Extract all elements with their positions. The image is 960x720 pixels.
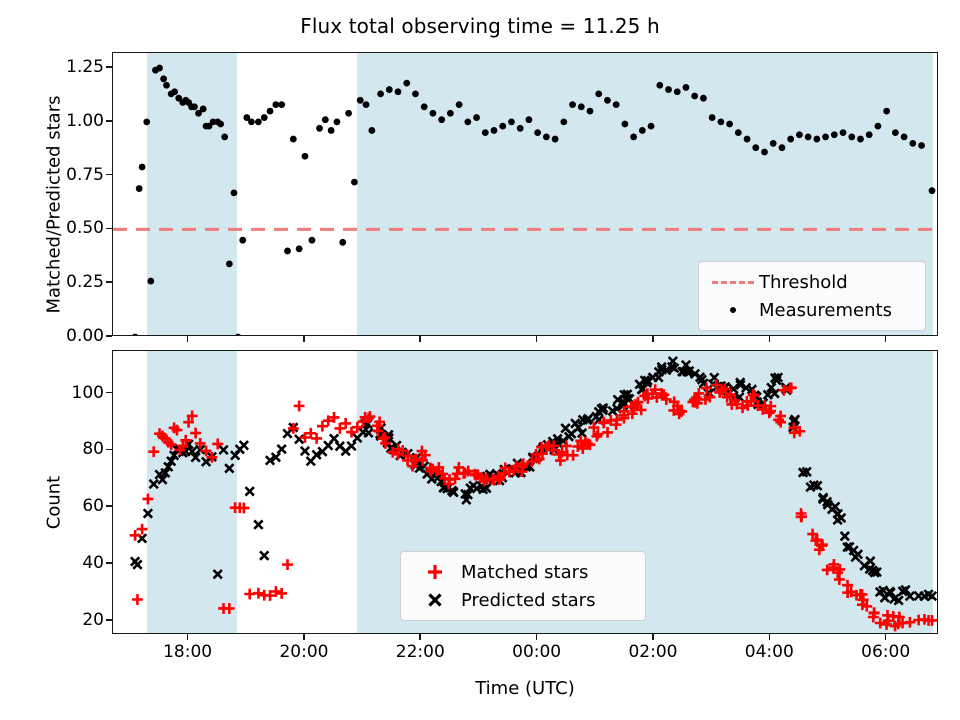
data-point: [775, 417, 786, 428]
data-point: [278, 101, 285, 108]
data-point: [929, 187, 936, 194]
legend-item-matched-stars: Matched stars: [409, 558, 635, 586]
data-point: [726, 121, 733, 128]
y-tick-mark: [106, 449, 112, 451]
data-point: [430, 110, 437, 117]
bottom-panel-legend: Matched stars Predicted stars: [400, 551, 646, 621]
x-tick-label: 06:00: [861, 642, 910, 662]
y-tick-label: 0.75: [6, 165, 104, 185]
data-point: [841, 532, 849, 540]
y-tick-mark: [106, 562, 112, 564]
data-point: [328, 127, 335, 134]
data-point: [787, 136, 794, 143]
data-point: [136, 185, 143, 192]
data-point: [854, 550, 862, 558]
data-point: [219, 446, 227, 454]
data-point: [130, 530, 141, 541]
data-point: [456, 101, 463, 108]
y-tick-label: 1.00: [6, 111, 104, 131]
data-point: [656, 82, 663, 89]
data-point: [351, 179, 358, 186]
data-point: [866, 131, 873, 138]
data-point: [604, 97, 611, 104]
x-tick-label: 04:00: [745, 642, 794, 662]
data-point: [674, 88, 681, 95]
data-point: [290, 136, 297, 143]
legend-label-matched-stars: Matched stars: [461, 562, 588, 583]
x-tick-mark: [419, 634, 421, 640]
data-point: [322, 116, 329, 123]
data-point: [224, 603, 235, 614]
data-point: [883, 108, 890, 115]
data-point: [560, 118, 567, 125]
data-point: [190, 428, 201, 439]
data-point: [148, 446, 159, 457]
x-tick-mark: [769, 634, 771, 640]
data-point: [552, 136, 559, 143]
data-point: [221, 134, 228, 141]
data-point: [386, 86, 393, 93]
data-point: [630, 134, 637, 141]
data-point: [735, 129, 742, 136]
data-point: [248, 118, 255, 125]
data-point: [296, 245, 303, 252]
data-point: [569, 101, 576, 108]
legend-label-predicted-stars: Predicted stars: [461, 590, 595, 611]
data-point: [717, 118, 724, 125]
legend-label-threshold: Threshold: [759, 272, 848, 293]
plus-marker-icon: [409, 562, 461, 582]
y-tick-mark: [106, 281, 112, 283]
data-point: [171, 88, 178, 95]
measurement-dot-icon: [707, 307, 759, 313]
data-point: [235, 334, 242, 336]
data-point: [137, 524, 148, 535]
x-axis-label: Time (UTC): [112, 678, 938, 699]
data-point: [421, 103, 428, 110]
y-tick-mark: [106, 228, 112, 230]
data-point: [648, 123, 655, 130]
data-point: [368, 127, 375, 134]
data-point: [163, 82, 170, 89]
data-point: [796, 131, 803, 138]
data-point: [700, 95, 707, 102]
y-tick-label: 1.25: [6, 57, 104, 77]
x-tick-mark: [187, 634, 189, 640]
data-point: [254, 520, 262, 528]
data-point: [144, 509, 152, 517]
data-point: [363, 101, 370, 108]
data-point: [139, 164, 146, 171]
data-point: [875, 123, 882, 130]
legend-item-measurements: Measurements: [707, 296, 915, 324]
data-point: [875, 618, 886, 629]
data-point: [395, 88, 402, 95]
data-point: [132, 594, 143, 605]
x-tick-label: 02:00: [628, 642, 677, 662]
data-point: [901, 134, 908, 141]
data-point: [561, 424, 569, 432]
x-tick-label: 20:00: [279, 642, 328, 662]
data-point: [239, 237, 246, 244]
data-point: [156, 65, 163, 72]
x-tick-mark: [885, 634, 887, 640]
y-tick-label: 0.00: [6, 326, 104, 346]
data-point: [213, 570, 221, 578]
data-point: [160, 75, 167, 82]
data-point: [132, 334, 139, 336]
y-tick-label: 40: [6, 553, 104, 573]
x-tick-label: 00:00: [512, 642, 561, 662]
data-point: [191, 103, 198, 110]
data-point: [277, 445, 285, 453]
data-point: [779, 144, 786, 151]
data-point: [526, 116, 533, 123]
data-point: [621, 121, 628, 128]
data-point: [147, 278, 154, 285]
data-point: [602, 427, 613, 438]
data-point: [301, 447, 309, 455]
data-point: [412, 90, 419, 97]
x-tick-mark: [419, 336, 421, 342]
legend-label-measurements: Measurements: [759, 300, 892, 321]
top-panel-legend: Threshold Measurements: [698, 261, 926, 331]
x-tick-label: 18:00: [163, 642, 212, 662]
data-point: [464, 118, 471, 125]
data-point: [253, 588, 264, 599]
data-point: [543, 134, 550, 141]
data-point: [905, 617, 916, 628]
page-title: Flux total observing time = 11.25 h: [0, 14, 960, 38]
x-tick-mark: [536, 634, 538, 640]
data-point: [822, 134, 829, 141]
y-tick-mark: [106, 66, 112, 68]
data-point: [639, 127, 646, 134]
data-point: [231, 189, 238, 196]
data-point: [857, 136, 864, 143]
data-point: [613, 101, 620, 108]
data-point: [813, 136, 820, 143]
data-point: [555, 455, 566, 466]
y-tick-mark: [106, 619, 112, 621]
y-tick-label: 20: [6, 610, 104, 630]
data-point: [587, 108, 594, 115]
data-point: [709, 114, 716, 121]
data-point: [294, 401, 305, 412]
data-point: [534, 129, 541, 136]
data-point: [276, 588, 287, 599]
data-point: [357, 97, 364, 104]
x-tick-mark: [769, 336, 771, 342]
data-point: [225, 464, 233, 472]
x-tick-mark: [536, 336, 538, 342]
top-panel-y-axis-label: Matched/Predicted stars: [44, 63, 65, 347]
data-point: [339, 239, 346, 246]
data-point: [309, 237, 316, 244]
data-point: [334, 118, 341, 125]
legend-item-threshold: Threshold: [707, 268, 915, 296]
y-tick-label: 80: [6, 439, 104, 459]
data-point: [578, 103, 585, 110]
x-tick-mark: [187, 336, 189, 342]
data-point: [282, 559, 293, 570]
data-point: [311, 433, 322, 444]
data-point: [245, 487, 253, 495]
data-point: [834, 574, 845, 585]
data-point: [683, 84, 690, 91]
data-point: [595, 90, 602, 97]
data-point: [822, 564, 833, 575]
cross-marker-icon: [409, 590, 461, 610]
data-point: [848, 134, 855, 141]
figure: Flux total observing time = 11.25 h Matc…: [0, 0, 960, 720]
x-tick-label: 22:00: [396, 642, 445, 662]
data-point: [260, 551, 268, 559]
y-tick-mark: [106, 505, 112, 507]
data-point: [217, 121, 224, 128]
threshold-dashed-line-icon: [707, 281, 759, 284]
data-point: [261, 114, 268, 121]
x-tick-mark: [652, 634, 654, 640]
data-point: [143, 118, 150, 125]
y-tick-label: 0.25: [6, 272, 104, 292]
data-point: [447, 110, 454, 117]
data-point: [240, 441, 248, 449]
data-point: [226, 260, 233, 267]
data-point: [403, 80, 410, 87]
data-point: [267, 108, 274, 115]
data-point: [150, 480, 158, 488]
data-point: [143, 494, 154, 505]
data-point: [482, 129, 489, 136]
y-tick-mark: [106, 392, 112, 394]
data-point: [752, 144, 759, 151]
data-point: [200, 106, 207, 113]
data-point: [918, 142, 925, 149]
y-tick-mark: [106, 174, 112, 176]
data-point: [517, 125, 524, 132]
data-point: [499, 123, 506, 130]
x-tick-mark: [652, 336, 654, 342]
data-point: [508, 118, 515, 125]
data-point: [840, 129, 847, 136]
x-tick-mark: [303, 634, 305, 640]
y-tick-label: 0.50: [6, 218, 104, 238]
data-point: [831, 131, 838, 138]
x-tick-mark: [885, 336, 887, 342]
data-point: [491, 127, 498, 134]
y-tick-label: 100: [6, 383, 104, 403]
y-tick-mark: [106, 120, 112, 122]
data-point: [770, 140, 777, 147]
data-point: [761, 149, 768, 156]
data-point: [438, 116, 445, 123]
y-tick-label: 60: [6, 496, 104, 516]
data-point: [691, 93, 698, 100]
data-point: [744, 136, 751, 143]
data-point: [255, 118, 262, 125]
data-point: [133, 560, 141, 568]
x-tick-mark: [303, 336, 305, 342]
data-point: [909, 140, 916, 147]
data-point: [665, 86, 672, 93]
data-point: [473, 114, 480, 121]
data-point: [345, 110, 352, 117]
data-point: [317, 421, 328, 432]
data-point: [284, 248, 291, 255]
legend-item-predicted-stars: Predicted stars: [409, 586, 635, 614]
data-point: [347, 442, 355, 450]
data-point: [272, 101, 279, 108]
data-point: [316, 125, 323, 132]
y-tick-mark: [106, 335, 112, 337]
data-point: [805, 134, 812, 141]
data-point: [377, 90, 384, 97]
data-point: [302, 153, 309, 160]
data-point: [892, 129, 899, 136]
